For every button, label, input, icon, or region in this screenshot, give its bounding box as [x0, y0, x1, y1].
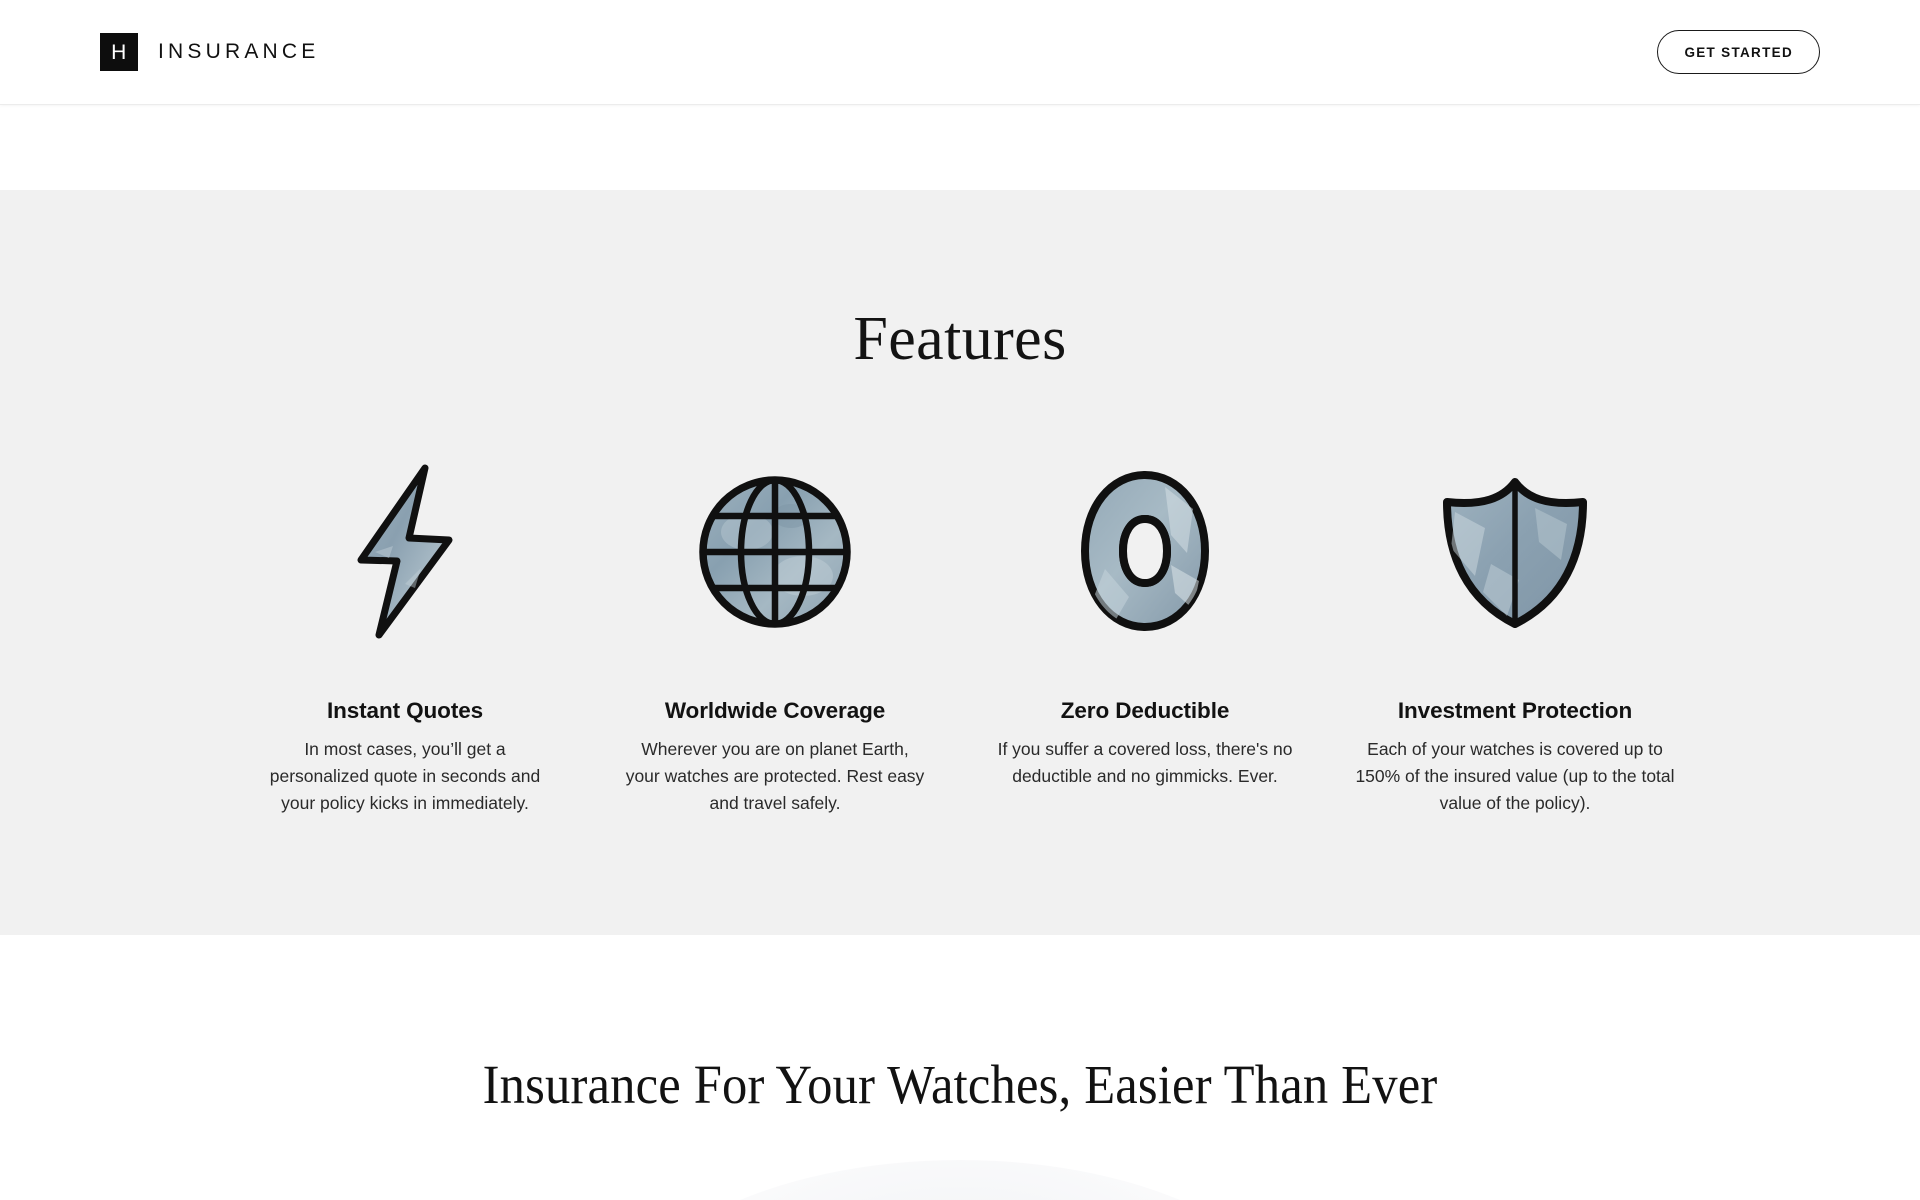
- feature-description: Each of your watches is covered up to 15…: [1355, 736, 1675, 817]
- features-grid: Instant Quotes In most cases, you’ll get…: [220, 370, 1700, 817]
- feature-title: Investment Protection: [1398, 697, 1632, 724]
- features-section-title: Features: [0, 308, 1920, 370]
- brand-logo-link[interactable]: H INSURANCE: [100, 33, 319, 71]
- closing-hero-image: [610, 1160, 1310, 1200]
- feature-card-instant-quotes: Instant Quotes In most cases, you’ll get…: [220, 454, 590, 817]
- globe-icon: [695, 454, 855, 649]
- feature-title: Worldwide Coverage: [665, 697, 885, 724]
- feature-card-investment-protection: Investment Protection Each of your watch…: [1330, 454, 1700, 817]
- zero-digit-icon: [1075, 454, 1215, 649]
- page-root: H INSURANCE GET STARTED Features: [0, 0, 1920, 1200]
- h-square-logo-icon: H: [100, 33, 138, 71]
- features-section: Features: [0, 190, 1920, 935]
- brand-name: INSURANCE: [158, 40, 319, 64]
- header-spacer: [0, 105, 1920, 190]
- site-header: H INSURANCE GET STARTED: [0, 0, 1920, 105]
- brand-mark-letter: H: [111, 42, 127, 63]
- closing-section-title: Insurance For Your Watches, Easier Than …: [77, 1055, 1843, 1116]
- closing-section: Insurance For Your Watches, Easier Than …: [0, 935, 1920, 1200]
- shield-icon: [1435, 454, 1595, 649]
- get-started-button[interactable]: GET STARTED: [1657, 30, 1820, 74]
- feature-title: Instant Quotes: [327, 697, 483, 724]
- lightning-bolt-icon: [345, 454, 465, 649]
- feature-card-worldwide-coverage: Worldwide Coverage Wherever you are on p…: [590, 454, 960, 817]
- feature-description: Wherever you are on planet Earth, your w…: [625, 736, 925, 817]
- feature-title: Zero Deductible: [1061, 697, 1230, 724]
- feature-description: If you suffer a covered loss, there's no…: [995, 736, 1295, 790]
- feature-card-zero-deductible: Zero Deductible If you suffer a covered …: [960, 454, 1330, 817]
- feature-description: In most cases, you’ll get a personalized…: [255, 736, 555, 817]
